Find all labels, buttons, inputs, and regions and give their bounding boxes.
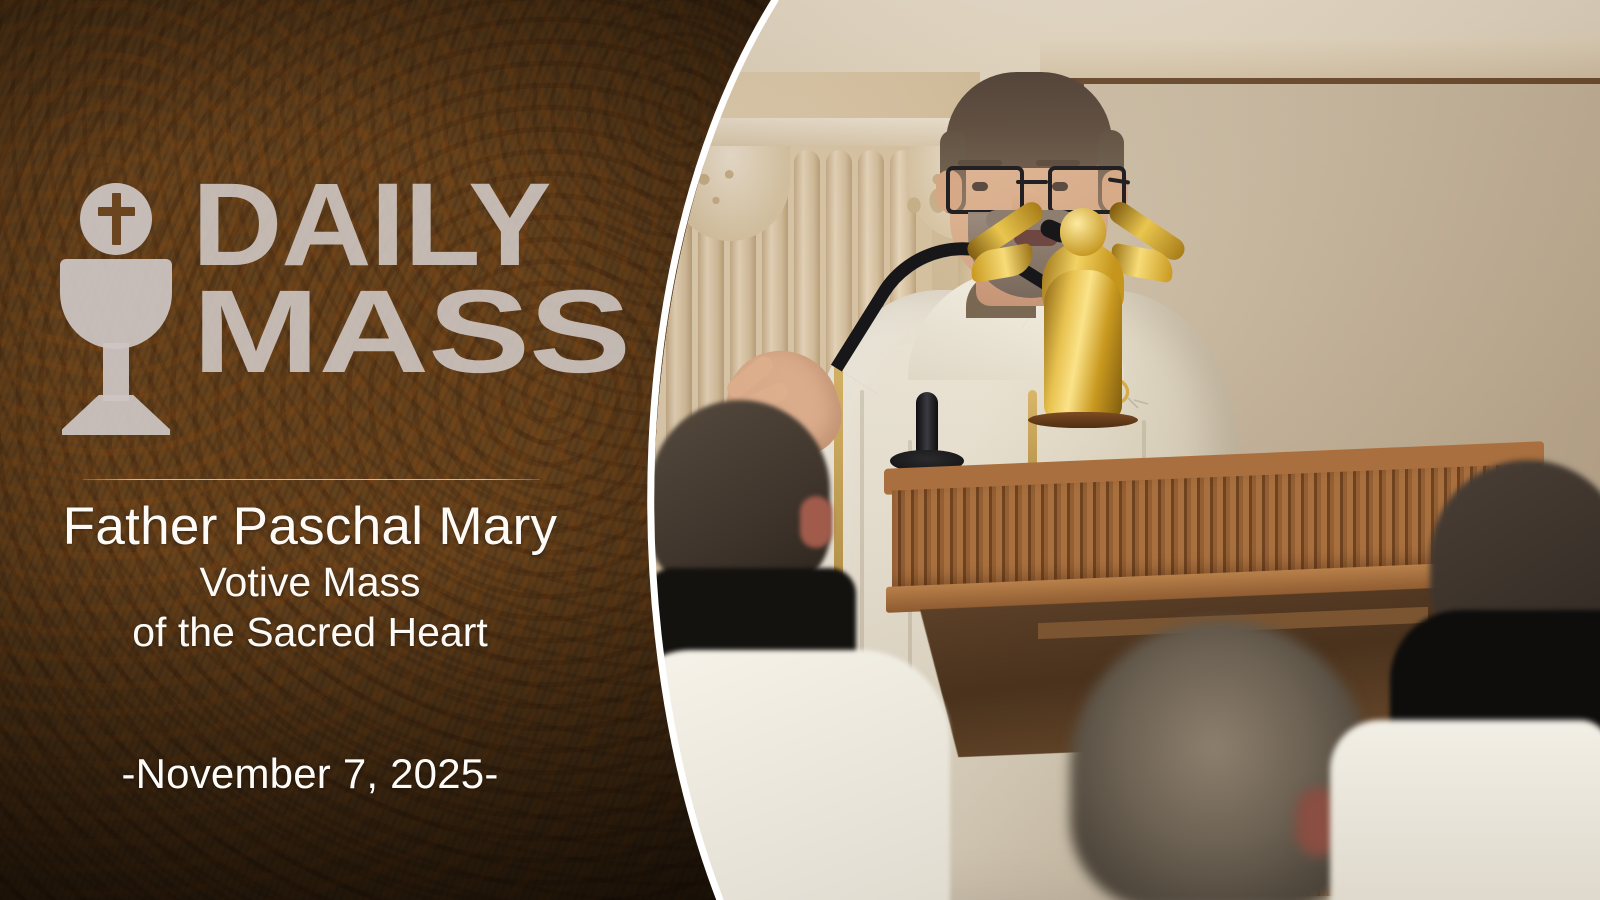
angel-pedestal-base: [1028, 412, 1138, 428]
mass-title: Votive Mass of the Sacred Heart: [0, 557, 620, 657]
wordmark-line-mass: MASS: [192, 282, 777, 383]
cross-icon-horizontal: [98, 207, 135, 216]
head: [1070, 620, 1370, 900]
eyeglass-bridge: [1016, 180, 1048, 184]
cross-icon-vertical: [112, 193, 121, 245]
daily-mass-title-card: DAILY MASS Father Paschal Mary Votive Ma…: [0, 0, 1600, 900]
mass-photograph: [640, 0, 1600, 900]
chalice-stem: [103, 343, 129, 401]
gilded-angel-statue: [976, 186, 1186, 426]
chalice-cup: [60, 259, 172, 349]
celebrant-name: Father Paschal Mary: [0, 496, 620, 557]
title-card-content: DAILY MASS Father Paschal Mary Votive Ma…: [0, 0, 640, 900]
mass-date: -November 7, 2025-: [0, 750, 620, 798]
brand-lockup: DAILY MASS: [40, 175, 600, 430]
angel-robe: [1044, 270, 1122, 420]
daily-mass-wordmark: DAILY MASS: [192, 175, 642, 384]
photo-scene: [640, 0, 1600, 900]
white-garment: [1330, 720, 1600, 900]
chalice-foot: [62, 395, 170, 435]
head: [650, 400, 830, 590]
mass-title-line-2: of the Sacred Heart: [0, 607, 620, 657]
foreground-congregant-right: [1370, 470, 1600, 900]
ear: [800, 496, 832, 548]
angel-head: [1060, 208, 1106, 256]
divider-rule: [83, 479, 540, 480]
chalice-with-host-and-cross-icon: [56, 183, 176, 433]
wordmark-line-daily: DAILY: [192, 175, 669, 276]
hair: [946, 72, 1112, 168]
mass-title-line-1: Votive Mass: [0, 557, 620, 607]
